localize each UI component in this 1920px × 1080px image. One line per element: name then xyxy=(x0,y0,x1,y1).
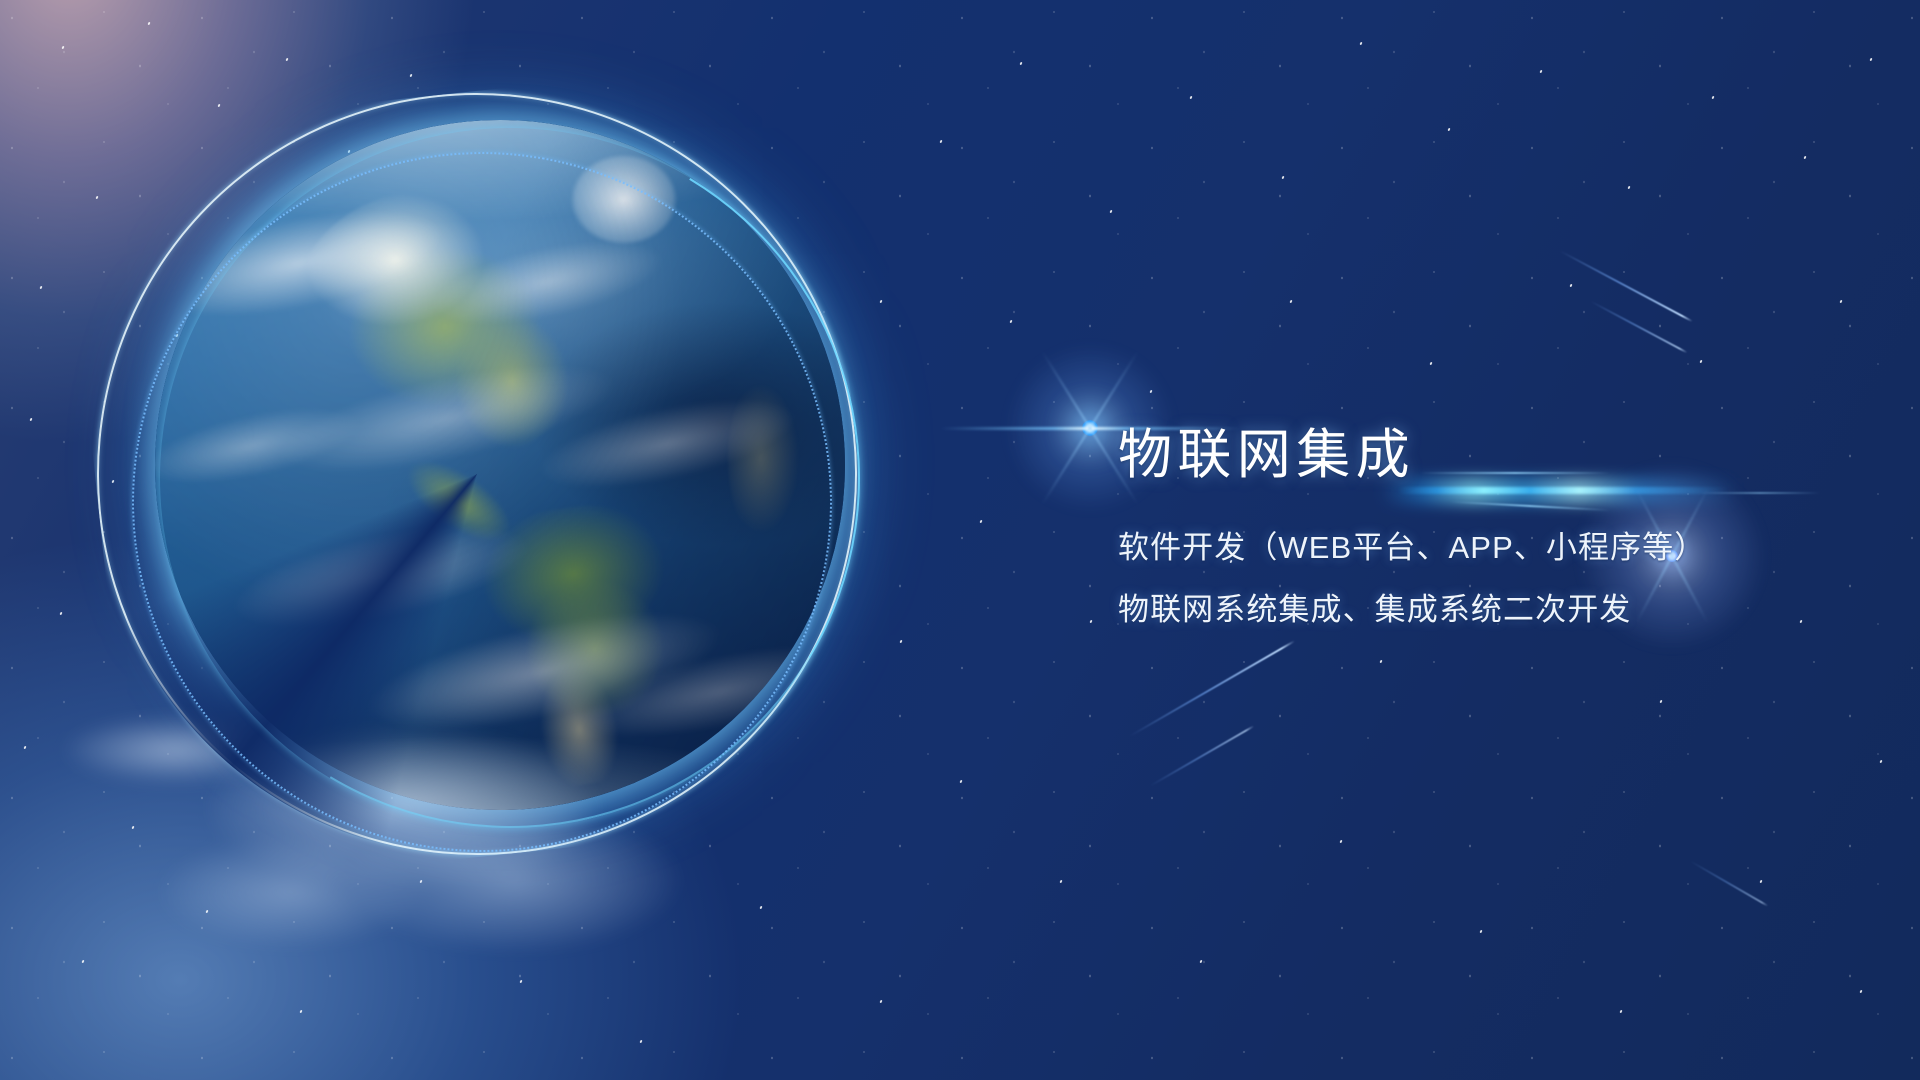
hero-banner: 物联网集成 软件开发（WEB平台、APP、小程序等） 物联网系统集成、集成系统二… xyxy=(0,0,1920,1080)
light-streak-thin xyxy=(1700,492,1820,494)
meteor-streak xyxy=(1590,300,1688,353)
light-streak xyxy=(1398,487,1728,494)
subtitle-line-1: 软件开发（WEB平台、APP、小程序等） xyxy=(1118,532,1706,563)
meteor-streak xyxy=(1150,725,1255,787)
light-streak-thin xyxy=(1420,472,1610,474)
meteor-streak xyxy=(1130,640,1296,737)
meteor-streak xyxy=(1560,250,1693,322)
subtitle-line-2: 物联网系统集成、集成系统二次开发 xyxy=(1118,594,1631,625)
flare-core xyxy=(1082,420,1098,436)
page-title: 物联网集成 xyxy=(1118,424,1415,488)
hero-copy: 物联网集成 软件开发（WEB平台、APP、小程序等） 物联网系统集成、集成系统二… xyxy=(1118,424,1415,488)
meteor-streak xyxy=(1690,860,1769,907)
